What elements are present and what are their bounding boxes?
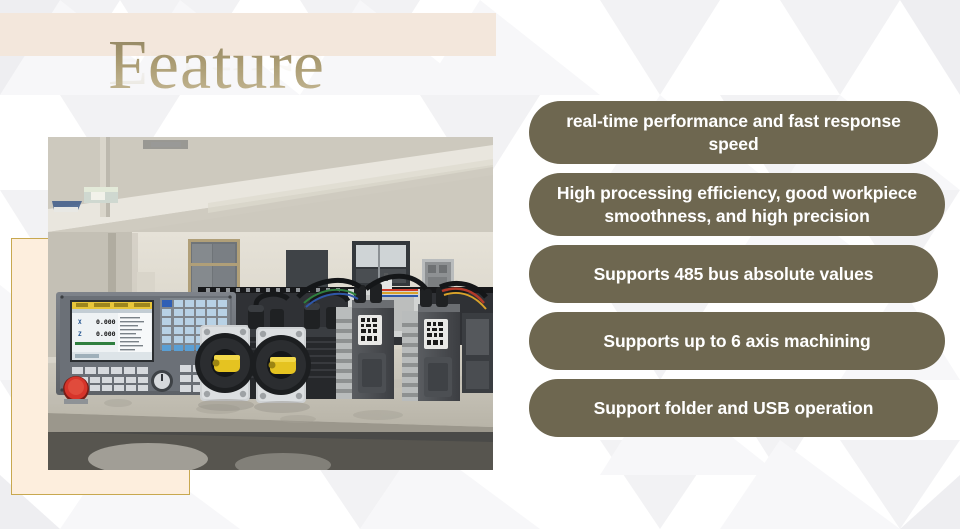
svg-text:0.000: 0.000 [96,330,116,338]
feature-pill-4-label: Supports up to 6 axis machining [603,330,870,353]
feature-list: real-time performance and fast response … [529,101,945,446]
feature-pill-4[interactable]: Supports up to 6 axis machining [529,312,945,370]
feature-pill-1[interactable]: real-time performance and fast response … [529,101,938,164]
workshop-photo: X 0.000 Z 0.000 [48,137,493,470]
feature-pill-3-label: Supports 485 bus absolute values [594,263,874,286]
feature-pill-2[interactable]: High processing efficiency, good workpie… [529,173,945,236]
workshop-photo-illustration: X 0.000 Z 0.000 [48,137,493,470]
feature-pill-2-label: High processing efficiency, good workpie… [547,182,927,228]
feature-pill-3[interactable]: Supports 485 bus absolute values [529,245,938,303]
page-title-reflection: Feature [108,22,438,98]
feature-slide: Feature Feature [0,0,960,529]
svg-text:0.000: 0.000 [96,318,116,326]
feature-pill-1-label: real-time performance and fast response … [547,110,920,156]
svg-text:X: X [78,319,82,326]
page-title: Feature Feature [108,28,438,138]
feature-pill-5[interactable]: Support folder and USB operation [529,379,938,437]
svg-text:Z: Z [78,331,82,338]
feature-pill-5-label: Support folder and USB operation [594,397,874,420]
